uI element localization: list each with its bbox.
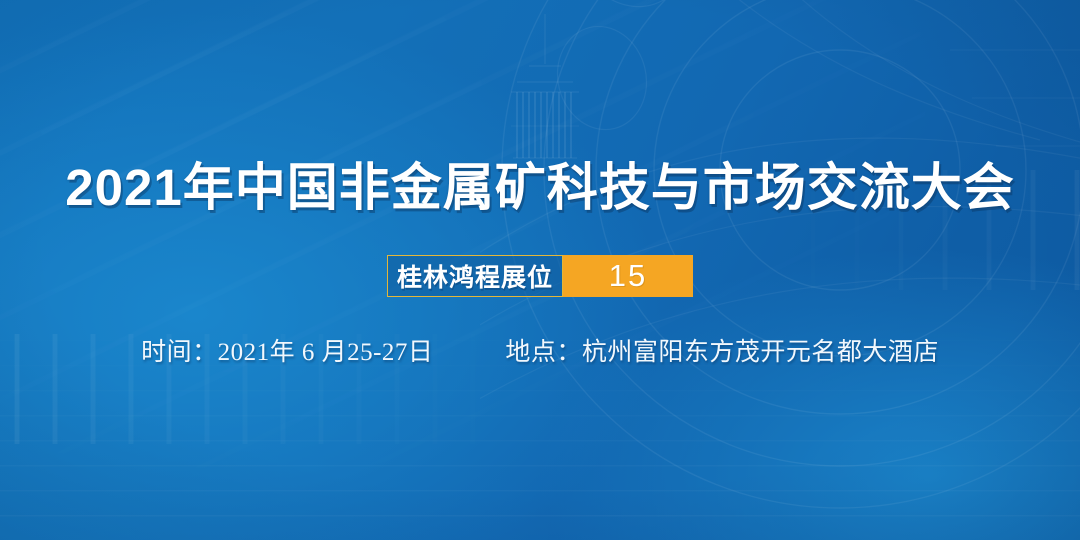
banner-content: 2021年中国非金属矿科技与市场交流大会 桂林鸿程展位 15 时间：2021年 … [0, 0, 1080, 540]
booth-badge-label: 桂林鸿程展位 [387, 255, 563, 297]
event-location: 地点：杭州富阳东方茂开元名都大酒店 [505, 332, 939, 368]
booth-badge: 桂林鸿程展位 15 [387, 255, 693, 297]
banner-title: 2021年中国非金属矿科技与市场交流大会 [0, 160, 1080, 215]
booth-badge-number: 15 [563, 255, 693, 297]
conference-banner: 2021年中国非金属矿科技与市场交流大会 桂林鸿程展位 15 时间：2021年 … [0, 0, 1080, 540]
banner-meta: 时间：2021年 6 月25-27日 地点：杭州富阳东方茂开元名都大酒店 [0, 332, 1080, 368]
event-time: 时间：2021年 6 月25-27日 [141, 332, 433, 368]
